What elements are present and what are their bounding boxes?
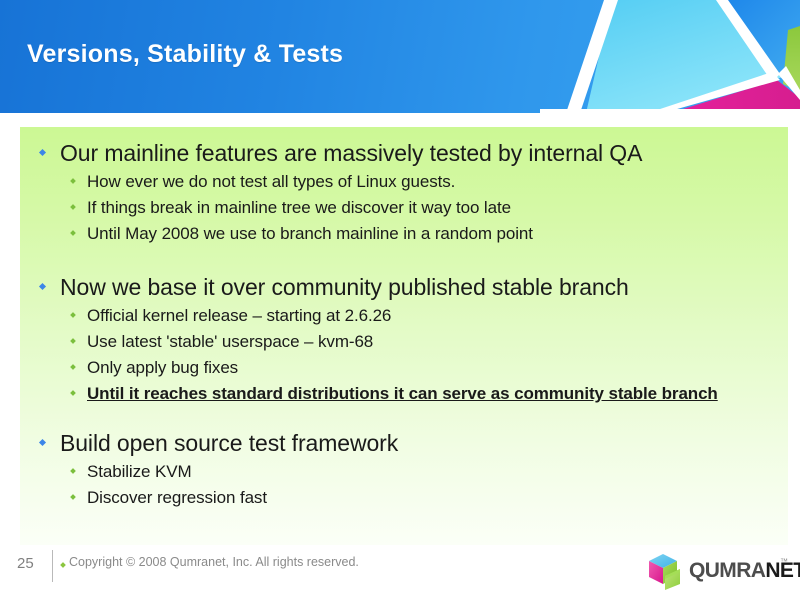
footer-divider [52, 550, 53, 582]
diamond-bullet-icon [70, 364, 76, 370]
footer-bullet-marker [60, 562, 66, 568]
diamond-bullet-icon [39, 283, 46, 290]
bullet-level2: If things break in mainline tree we disc… [30, 195, 778, 221]
diamond-bullet-icon [70, 494, 76, 500]
diamond-bullet-icon [70, 204, 76, 210]
trademark-symbol: ™ [780, 557, 788, 566]
cube-icon [644, 552, 684, 595]
diamond-bullet-icon [39, 149, 46, 156]
header-decoration-polygons [540, 0, 800, 113]
bullet-level2-label: Discover regression fast [87, 488, 267, 507]
bullet-group-spacer [30, 407, 778, 429]
bullet-level1: Build open source test framework [30, 429, 778, 457]
bullet-level2: Discover regression fast [30, 485, 778, 511]
bullet-level2-label: Until it reaches standard distributions … [87, 384, 718, 403]
bullet-level2: How ever we do not test all types of Lin… [30, 169, 778, 195]
bullet-level2: Use latest 'stable' userspace – kvm-68 [30, 329, 778, 355]
diamond-bullet-icon [39, 439, 46, 446]
bullet-level2-label: Official kernel release – starting at 2.… [87, 306, 391, 325]
slide-root: Versions, Stability & Tests Our mainline… [0, 0, 800, 600]
content-panel: Our mainline features are massively test… [20, 127, 788, 545]
bullet-level2: Official kernel release – starting at 2.… [30, 303, 778, 329]
bullet-level1-label: Build open source test framework [60, 430, 398, 456]
bullet-level2-label: Stabilize KVM [87, 462, 192, 481]
bullet-level1-label: Our mainline features are massively test… [60, 140, 642, 166]
diamond-bullet-icon [70, 338, 76, 344]
page-number: 25 [17, 555, 34, 572]
bullet-level2: Only apply bug fixes [30, 355, 778, 381]
bullet-level2: Until it reaches standard distributions … [30, 381, 778, 407]
bullet-group-spacer [30, 247, 778, 273]
bullet-level2-label: How ever we do not test all types of Lin… [87, 172, 455, 191]
slide-header: Versions, Stability & Tests [0, 0, 800, 113]
bullet-level2-label: Only apply bug fixes [87, 358, 238, 377]
diamond-bullet-icon [70, 468, 76, 474]
bullet-level2-label: Until May 2008 we use to branch mainline… [87, 224, 533, 243]
bullet-list: Our mainline features are massively test… [30, 139, 778, 511]
bullet-level2-label: Use latest 'stable' userspace – kvm-68 [87, 332, 373, 351]
copyright-text: Copyright © 2008 Qumranet, Inc. All righ… [69, 555, 359, 569]
diamond-bullet-icon [70, 178, 76, 184]
diamond-bullet-icon [70, 390, 76, 396]
bullet-level2: Stabilize KVM [30, 459, 778, 485]
slide-footer: 25 Copyright © 2008 Qumranet, Inc. All r… [0, 545, 800, 600]
bullet-level2: Until May 2008 we use to branch mainline… [30, 221, 778, 247]
bullet-level1-label: Now we base it over community published … [60, 274, 629, 300]
bullet-level2-label: If things break in mainline tree we disc… [87, 198, 511, 217]
diamond-bullet-icon [70, 312, 76, 318]
diamond-bullet-icon [70, 230, 76, 236]
logo-word-prefix: QUMRA [689, 559, 765, 582]
page-title: Versions, Stability & Tests [27, 40, 343, 69]
bullet-level1: Now we base it over community published … [30, 273, 778, 301]
qumranet-logo: QUMRANET ™ [644, 550, 790, 592]
bullet-level1: Our mainline features are massively test… [30, 139, 778, 167]
